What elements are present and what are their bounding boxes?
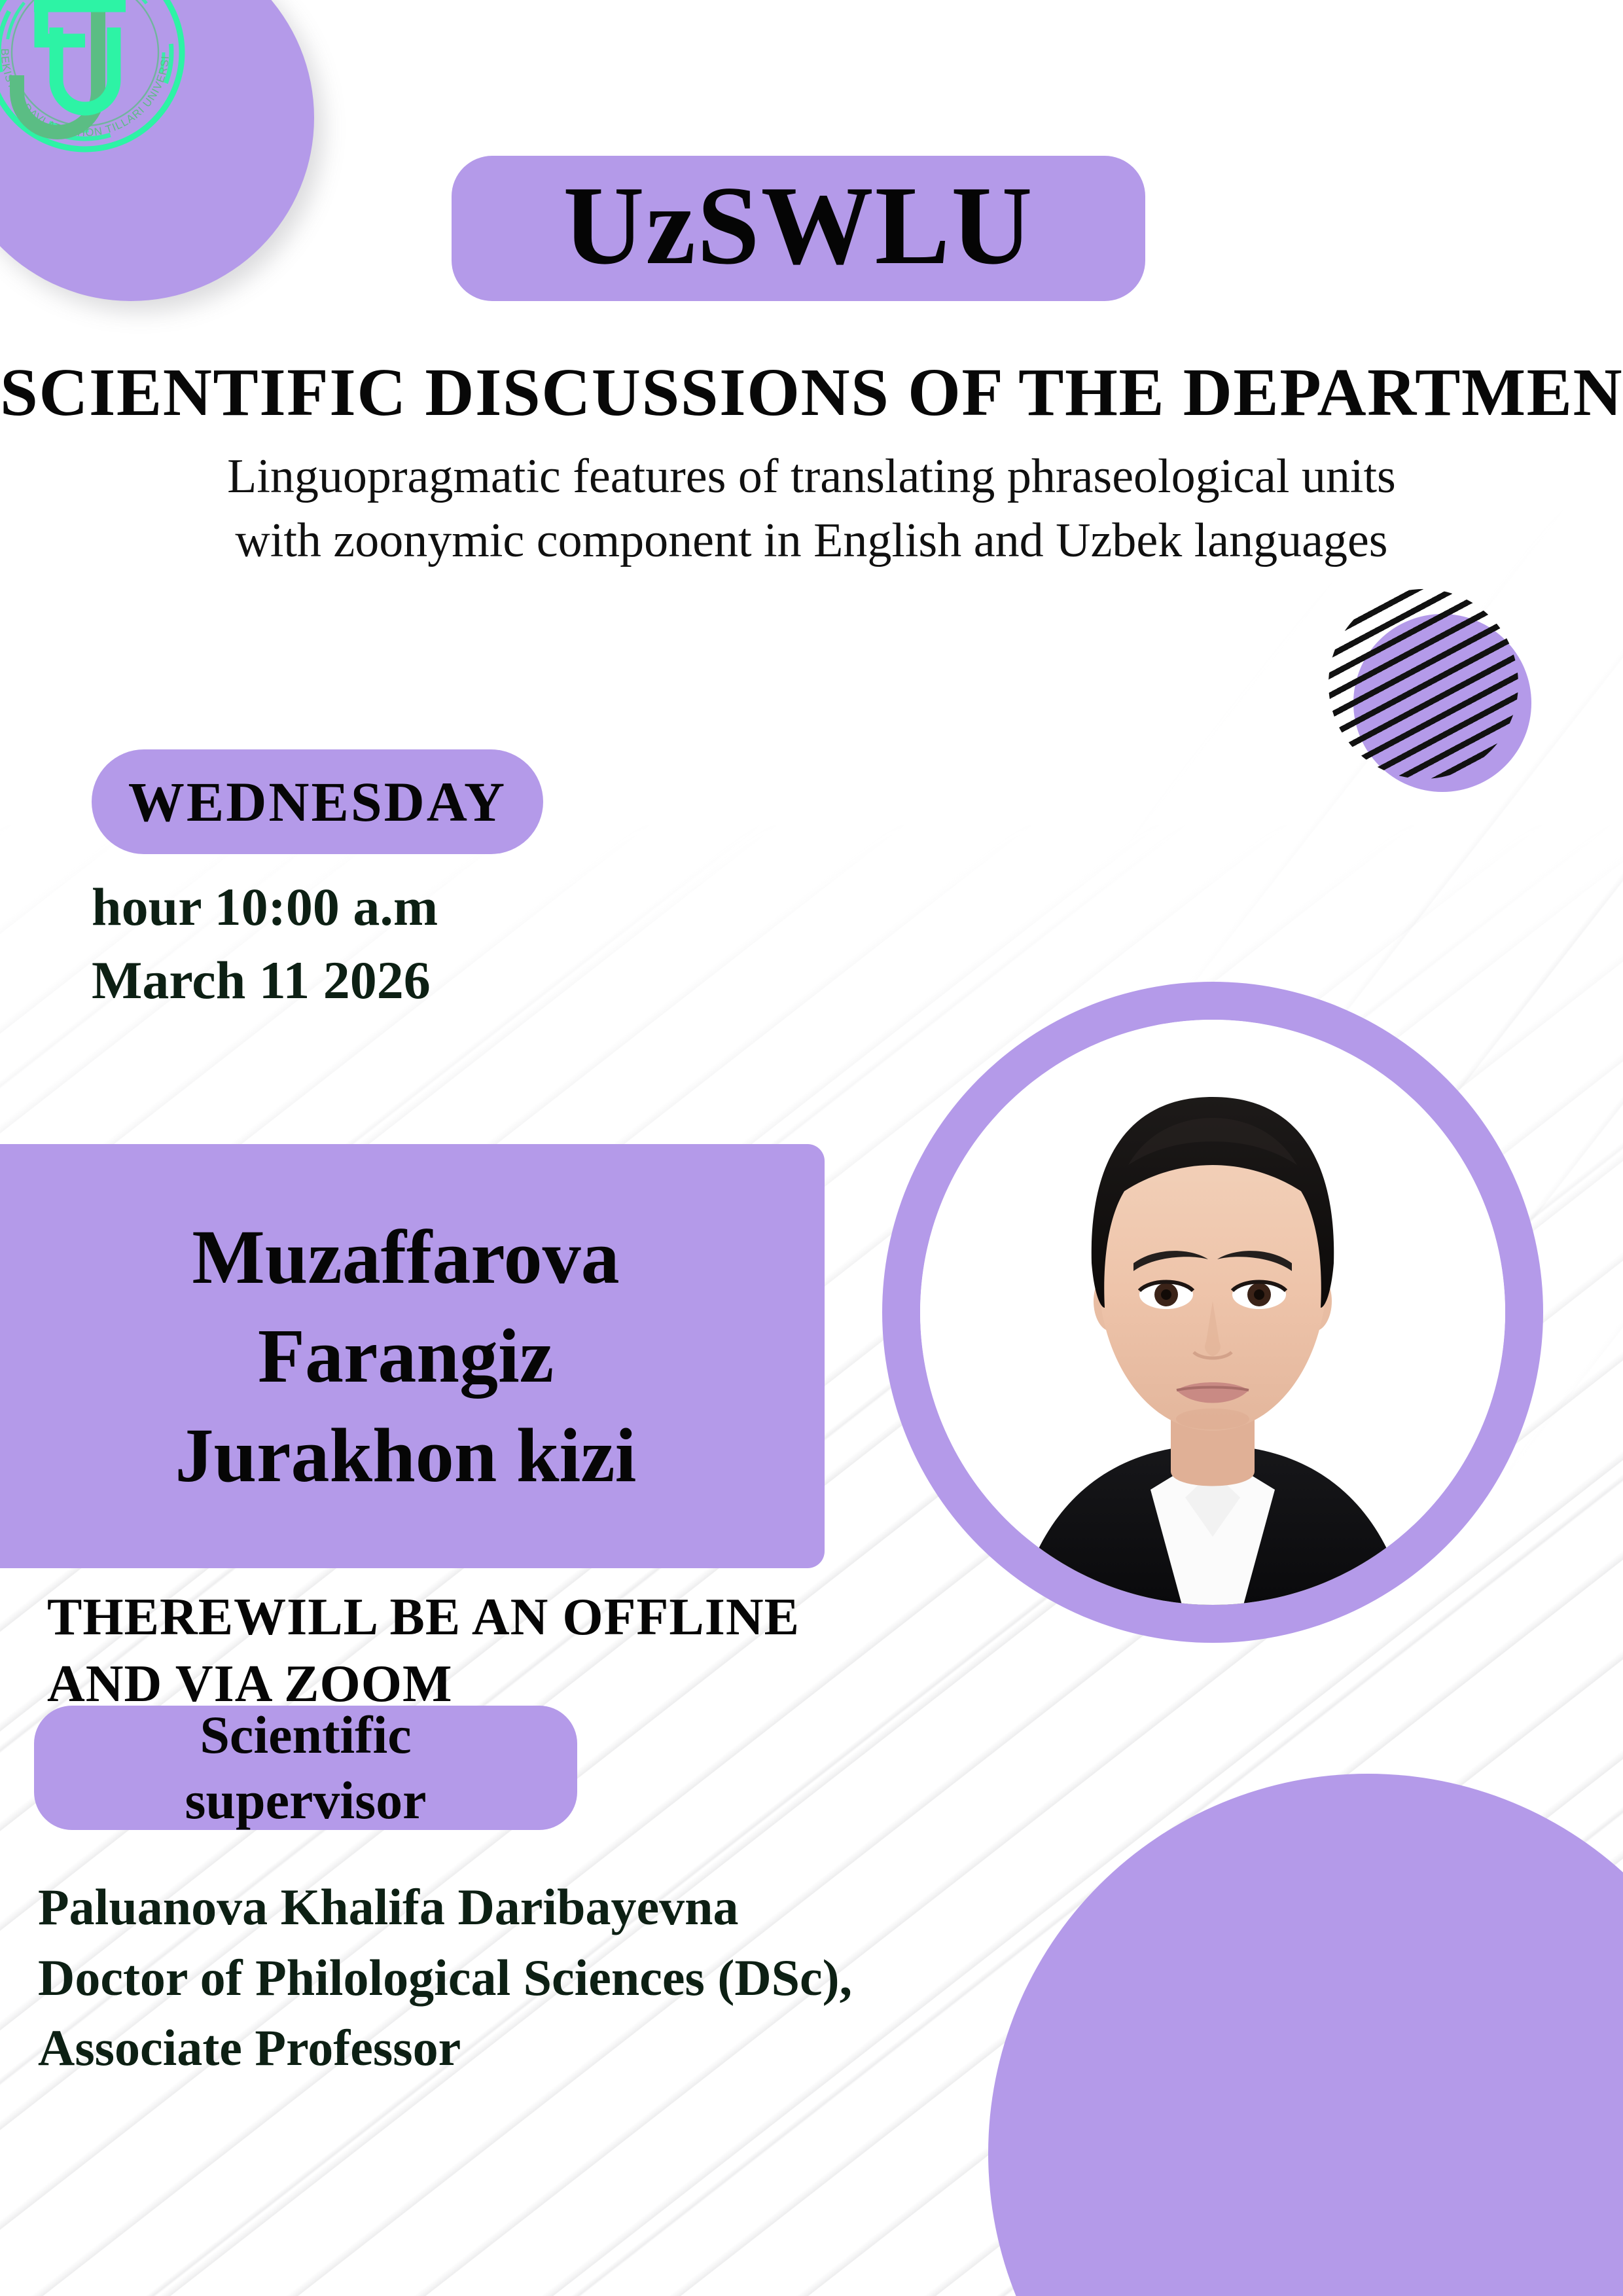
presenter-name-line-3: Jurakhon kizi — [175, 1406, 637, 1505]
supervisor-badge: Scientific supervisor — [34, 1706, 577, 1830]
topic-line-1: Linguopragmatic features of translating … — [0, 445, 1623, 509]
weekday-badge: WEDNESDAY — [92, 749, 543, 854]
supervisor-badge-line-2: supervisor — [185, 1768, 427, 1833]
logo-background-blob: 1992 O'ZBEKISTON DAVLAT JAHON TILLARI UN… — [0, 0, 314, 301]
event-time: hour 10:00 a.m — [92, 870, 438, 944]
weekday-label: WEDNESDAY — [128, 769, 507, 834]
supervisor-badge-line-1: Scientific — [185, 1702, 427, 1768]
attendance-mode-note: THEREWILL BE AN OFFLINE AND VIA ZOOM — [47, 1584, 800, 1718]
presenter-avatar-ring — [882, 982, 1543, 1643]
presenter-name: Muzaffarova Farangiz Jurakhon kizi — [123, 1208, 663, 1504]
decoration-stripes-icon — [1329, 589, 1518, 779]
presenter-name-line-2: Farangiz — [175, 1306, 637, 1405]
presenter-name-line-1: Muzaffarova — [175, 1208, 637, 1306]
striped-circle-decoration — [1329, 589, 1531, 792]
event-poster: 1992 O'ZBEKISTON DAVLAT JAHON TILLARI UN… — [0, 0, 1623, 2296]
supervisor-name: Paluanova Khalifa Daribayevna — [38, 1872, 852, 1943]
corner-decoration-blob — [988, 1774, 1623, 2296]
attendance-mode-line-1: THEREWILL BE AN OFFLINE — [47, 1584, 800, 1651]
topic-line-2: with zoonymic component in English and U… — [0, 509, 1623, 573]
avatar — [920, 1020, 1505, 1605]
event-date: March 11 2026 — [92, 944, 438, 1017]
supervisor-degree: Doctor of Philological Sciences (DSc), — [38, 1943, 852, 2013]
university-abbr-badge: UzSWLU — [452, 156, 1145, 301]
supervisor-details: Paluanova Khalifa Daribayevna Doctor of … — [38, 1872, 852, 2083]
university-abbr-label: UzSWLU — [563, 170, 1033, 282]
supervisor-badge-label: Scientific supervisor — [185, 1702, 427, 1833]
university-logo-icon: 1992 O'ZBEKISTON DAVLAT JAHON TILLARI UN… — [0, 0, 196, 164]
page-title: SCIENTIFIC DISCUSSIONS OF THE DEPARTMENT — [0, 353, 1623, 431]
topic-text: Linguopragmatic features of translating … — [0, 445, 1623, 573]
event-datetime: hour 10:00 a.m March 11 2026 — [92, 870, 438, 1016]
presenter-name-panel: Muzaffarova Farangiz Jurakhon kizi — [0, 1144, 825, 1568]
supervisor-rank: Associate Professor — [38, 2013, 852, 2083]
